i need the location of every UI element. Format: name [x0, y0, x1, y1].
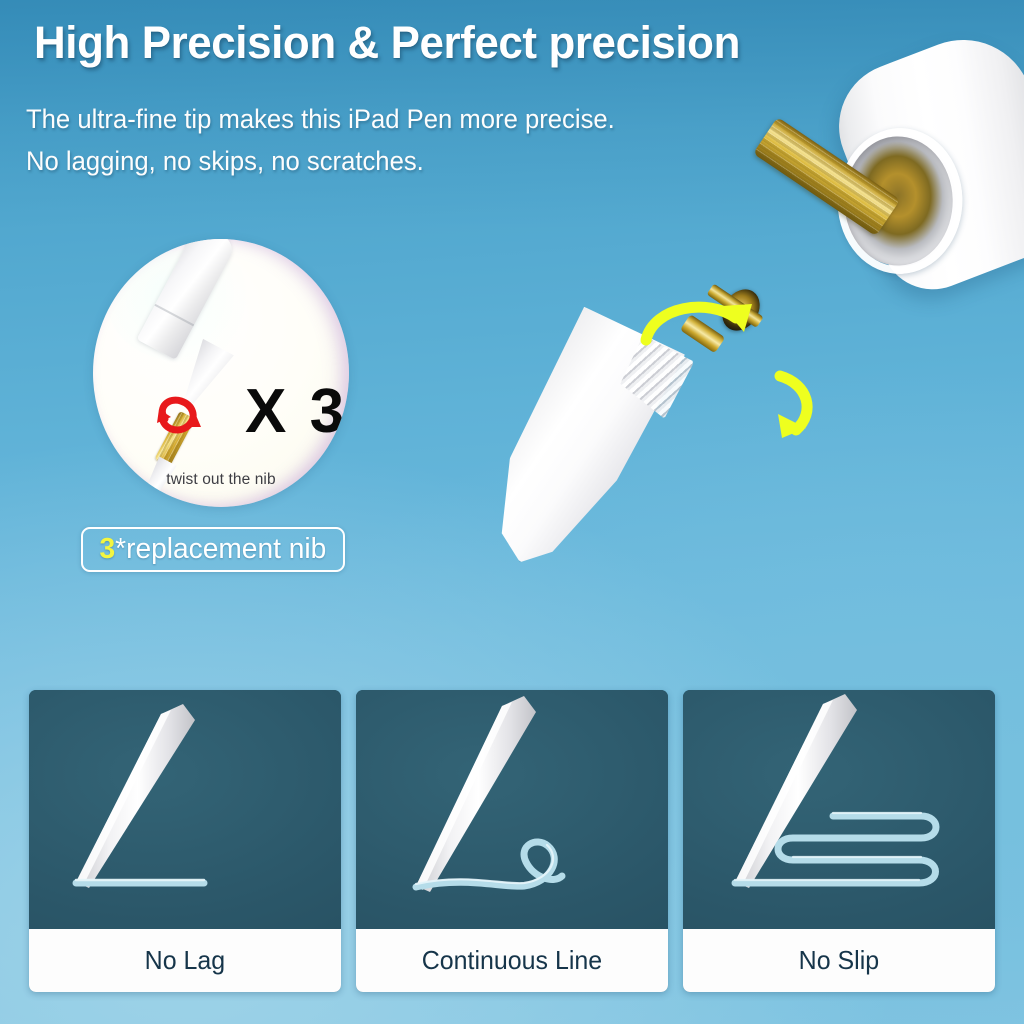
badge-count: 3 [100, 533, 116, 565]
panel-caption: No Lag [29, 929, 341, 992]
product-feature-image: High Precision & Perfect precision The u… [0, 0, 1024, 1024]
stylus-drawing-straight-line [29, 690, 341, 929]
stylus-drawing-zigzag-line [683, 690, 995, 929]
panel-caption-text: Continuous Line [422, 945, 602, 976]
panel-caption-text: No Lag [145, 945, 225, 976]
status-badge: 3*replacement nib [81, 527, 345, 572]
feature-panel-continuous-line: Continuous Line [356, 690, 668, 992]
feature-panels: No Lag [29, 690, 995, 992]
nib-replacement-inset: X 3 twist out the nib [93, 239, 349, 507]
panel-caption: Continuous Line [356, 929, 668, 992]
subtitle-line-1: The ultra-fine tip makes this iPad Pen m… [26, 104, 615, 135]
yellow-rotation-arrow-icon-2 [760, 368, 846, 442]
feature-panel-no-lag: No Lag [29, 690, 341, 992]
inset-iridescent-rim [93, 239, 349, 507]
panel-caption: No Slip [683, 929, 995, 992]
page-title: High Precision & Perfect precision [34, 17, 892, 69]
badge-label: *replacement nib [115, 533, 326, 565]
badge-text: 3*replacement nib [100, 533, 327, 566]
stylus-drawing-curved-line [356, 690, 668, 929]
feature-panel-no-slip: No Slip [683, 690, 995, 992]
panel-caption-text: No Slip [799, 945, 879, 976]
subtitle-line-2: No lagging, no skips, no scratches. [26, 146, 424, 177]
yellow-rotation-arrow-icon [636, 294, 766, 354]
